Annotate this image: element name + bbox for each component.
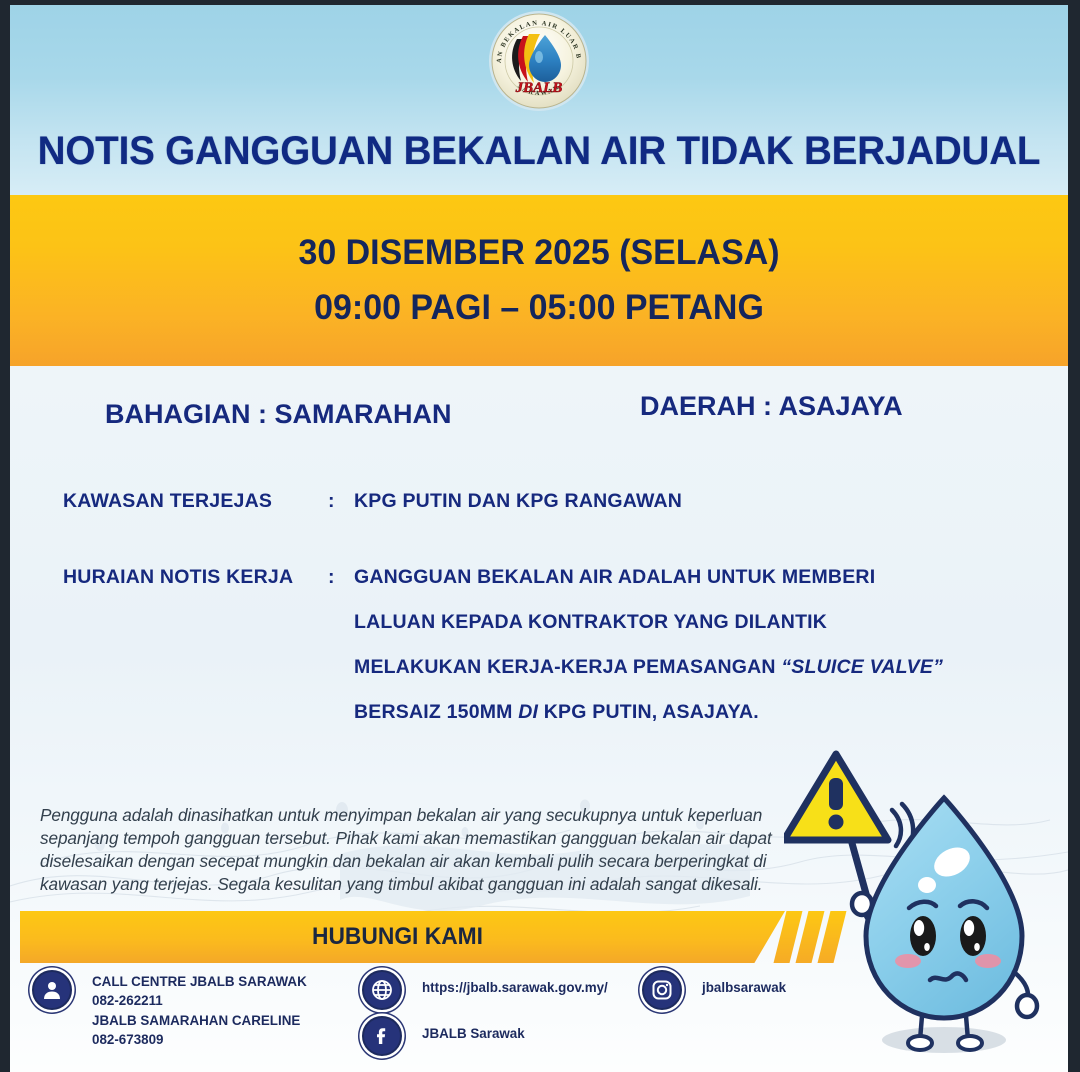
globe-icon	[362, 970, 402, 1010]
person-icon	[32, 970, 72, 1010]
call-centre-title: CALL CENTRE JBALB SARAWAK	[92, 974, 307, 989]
huraian-colon: :	[328, 566, 335, 589]
call-centre-number: 082-262211	[92, 993, 163, 1008]
huraian-line: MELAKUKAN KERJA-KERJA PEMASANGAN “SLUICE…	[354, 656, 943, 679]
website-url[interactable]: https://jbalb.sarawak.gov.my/	[422, 970, 608, 997]
huraian-line: LALUAN KEPADA KONTRAKTOR YANG DILANTIK	[354, 611, 943, 634]
advice-paragraph: Pengguna adalah dinasihatkan untuk menyi…	[40, 804, 785, 896]
contact-call-centre[interactable]: CALL CENTRE JBALB SARAWAK 082-262211 JBA…	[32, 970, 307, 1050]
contact-banner: HUBUNGI KAMI	[10, 911, 1068, 963]
careline-title: JBALB SAMARAHAN CARELINE	[92, 1013, 300, 1028]
daerah-label: DAERAH : ASAJAYA	[640, 391, 903, 422]
date-line: 30 DISEMBER 2025 (SELASA)	[26, 233, 1052, 273]
huraian-value-lines: GANGGUAN BEKALAN AIR ADALAH UNTUK MEMBER…	[354, 566, 943, 746]
region-row: BAHAGIAN : SAMARAHAN DAERAH : ASAJAYA	[10, 399, 1068, 447]
call-centre-text: CALL CENTRE JBALB SARAWAK 082-262211 JBA…	[92, 970, 307, 1050]
huraian-label: HURAIAN NOTIS KERJA	[63, 566, 293, 589]
huraian-line: GANGGUAN BEKALAN AIR ADALAH UNTUK MEMBER…	[354, 566, 943, 589]
contact-banner-label: HUBUNGI KAMI	[39, 911, 756, 963]
huraian-line: BERSAIZ 150MM DI KPG PUTIN, ASAJAYA.	[354, 701, 943, 724]
contact-facebook[interactable]: JBALB Sarawak	[362, 1016, 525, 1056]
kawasan-value: KPG PUTIN DAN KPG RANGAWAN	[354, 490, 682, 513]
jbalb-water-droplet-seal-icon: JABATAN BEKALAN AIR LUAR BANDAR SARAWAK …	[487, 9, 591, 113]
contacts-section: CALL CENTRE JBALB SARAWAK 082-262211 JBA…	[10, 966, 1068, 1072]
logo-center-text: JBALB	[515, 80, 563, 96]
time-range-line: 09:00 PAGI – 05:00 PETANG	[26, 288, 1052, 328]
poster-header: JABATAN BEKALAN AIR LUAR BANDAR SARAWAK …	[10, 5, 1068, 195]
bahagian-label: BAHAGIAN : SAMARAHAN	[105, 399, 451, 430]
date-band: 30 DISEMBER 2025 (SELASA) 09:00 PAGI – 0…	[10, 195, 1068, 366]
kawasan-label: KAWASAN TERJEJAS	[63, 490, 272, 513]
instagram-handle[interactable]: jbalbsarawak	[702, 970, 786, 997]
facebook-handle[interactable]: JBALB Sarawak	[422, 1016, 525, 1043]
instagram-icon	[642, 970, 682, 1010]
poster-body: BAHAGIAN : SAMARAHAN DAERAH : ASAJAYA KA…	[10, 366, 1068, 1072]
jbalb-logo: JABATAN BEKALAN AIR LUAR BANDAR SARAWAK …	[487, 9, 591, 113]
contact-website[interactable]: https://jbalb.sarawak.gov.my/	[362, 970, 608, 1010]
notice-poster: JABATAN BEKALAN AIR LUAR BANDAR SARAWAK …	[10, 5, 1068, 1072]
kawasan-colon: :	[328, 490, 335, 513]
careline-number: 082-673809	[92, 1032, 163, 1047]
contact-instagram[interactable]: jbalbsarawak	[642, 970, 786, 1010]
page-title: NOTIS GANGGUAN BEKALAN AIR TIDAK BERJADU…	[29, 129, 1050, 174]
facebook-icon	[362, 1016, 402, 1056]
